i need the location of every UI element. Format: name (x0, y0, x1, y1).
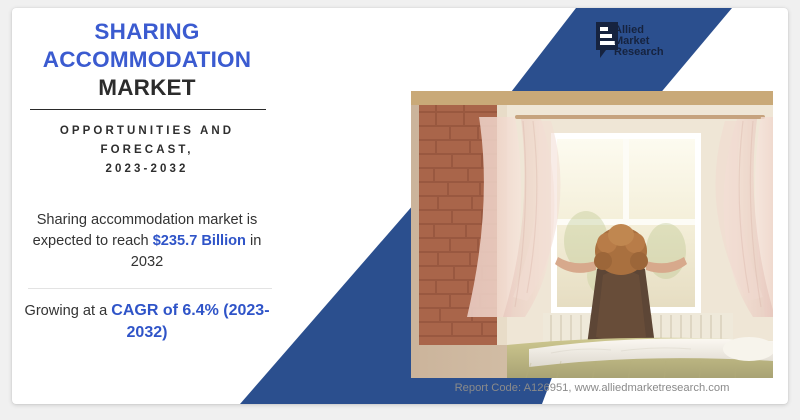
cagr-statement: Growing at a CAGR of 6.4% (2023-2032) (22, 300, 272, 344)
left-text-column: SHARING ACCOMMODATION MARKET OPPORTUNITI… (12, 8, 282, 404)
subtitle-line-3: 2023-2032 (12, 160, 282, 179)
subtitle-line-2: FORECAST, (12, 141, 282, 160)
cagr-prefix: Growing at a (24, 303, 111, 319)
page-title: SHARING ACCOMMODATION MARKET (12, 18, 282, 102)
report-footer: Report Code: A126951, www.alliedmarketre… (411, 382, 773, 394)
logo-line-3: Research (614, 46, 664, 58)
cagr-value: CAGR of 6.4% (2023-2032) (111, 302, 269, 341)
allied-market-research-logo: Allied Market Research (590, 18, 686, 68)
subtitle-line-1: OPPORTUNITIES AND (12, 122, 282, 141)
title-line-3: MARKET (12, 74, 282, 102)
stat-value: $235.7 Billion (153, 233, 246, 249)
stat-divider (28, 288, 272, 289)
market-value-statement: Sharing accommodation market is expected… (22, 210, 272, 273)
infographic-card: Allied Market Research SHARING ACCOMMODA… (12, 8, 788, 404)
subtitle: OPPORTUNITIES AND FORECAST, 2023-2032 (12, 122, 282, 179)
title-divider (30, 109, 266, 110)
title-line-1: SHARING (12, 18, 282, 46)
bedroom-window-photo (411, 91, 773, 378)
title-line-2: ACCOMMODATION (12, 46, 282, 74)
